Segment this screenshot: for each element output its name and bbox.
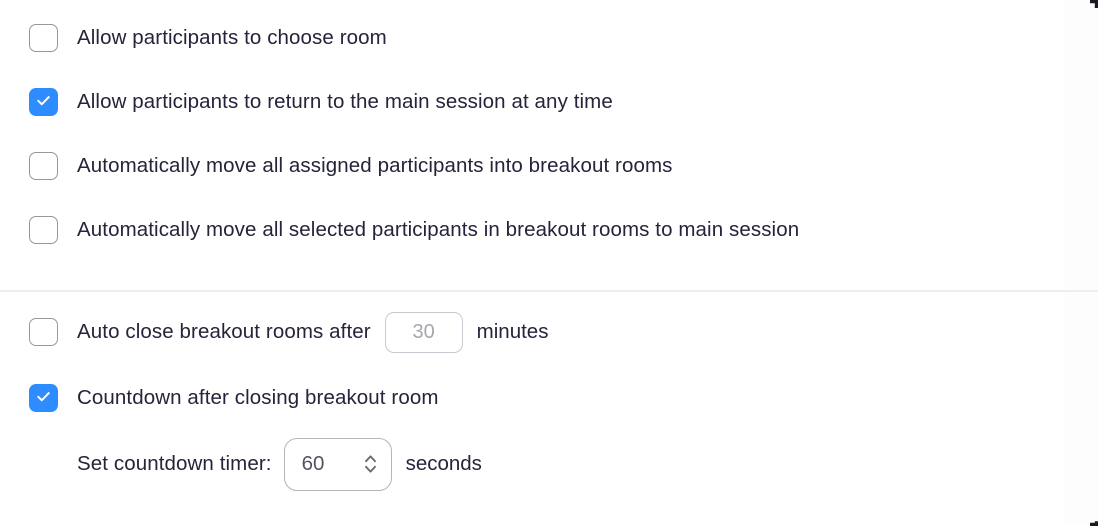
option-row-countdown-after-closing[interactable]: Countdown after closing breakout room <box>0 380 1098 416</box>
option-row-allow-choose-room[interactable]: Allow participants to choose room <box>0 20 1098 56</box>
stepper-updown-icon[interactable] <box>364 453 377 475</box>
checkbox-icon-allow-choose-room[interactable] <box>29 24 58 52</box>
option-row-auto-close-rooms[interactable]: Auto close breakout rooms after 30 minut… <box>0 314 1098 350</box>
countdown-seconds-value: 60 <box>302 454 325 475</box>
checkbox-icon-auto-move-assigned[interactable] <box>29 152 58 180</box>
countdown-seconds-stepper[interactable]: 60 <box>284 438 392 491</box>
option-label-auto-move-assigned: Automatically move all assigned particip… <box>77 156 673 177</box>
participant-options-section: Allow participants to choose room Allow … <box>0 20 1098 248</box>
set-countdown-timer-label: Set countdown timer: <box>77 454 272 475</box>
checkmark-icon <box>36 93 51 108</box>
checkbox-icon-auto-move-selected[interactable] <box>29 216 58 244</box>
countdown-seconds-unit-label: seconds <box>406 454 482 475</box>
timing-options-section: Auto close breakout rooms after 30 minut… <box>0 314 1098 482</box>
option-row-allow-return-main-session[interactable]: Allow participants to return to the main… <box>0 84 1098 120</box>
option-label-countdown-after-closing: Countdown after closing breakout room <box>77 388 439 409</box>
option-label-auto-close-rooms: Auto close breakout rooms after <box>77 322 371 343</box>
section-divider <box>0 290 1098 292</box>
option-row-auto-move-assigned[interactable]: Automatically move all assigned particip… <box>0 148 1098 184</box>
checkbox-icon-auto-close-rooms[interactable] <box>29 318 58 346</box>
auto-close-minutes-input[interactable]: 30 <box>385 312 463 353</box>
auto-close-minutes-unit-label: minutes <box>477 322 549 343</box>
checkbox-checked-icon-allow-return-main-session[interactable] <box>29 88 58 116</box>
checkbox-checked-icon-countdown-after-closing[interactable] <box>29 384 58 412</box>
option-label-auto-move-selected: Automatically move all selected particip… <box>77 220 799 241</box>
option-label-allow-return-main-session: Allow participants to return to the main… <box>77 92 613 113</box>
option-label-allow-choose-room: Allow participants to choose room <box>77 28 387 49</box>
breakout-rooms-options-panel: Allow participants to choose room Allow … <box>0 0 1098 526</box>
checkmark-icon <box>36 389 51 404</box>
option-row-auto-move-selected[interactable]: Automatically move all selected particip… <box>0 212 1098 248</box>
set-countdown-timer-row: Set countdown timer: 60 seconds <box>0 446 1098 482</box>
